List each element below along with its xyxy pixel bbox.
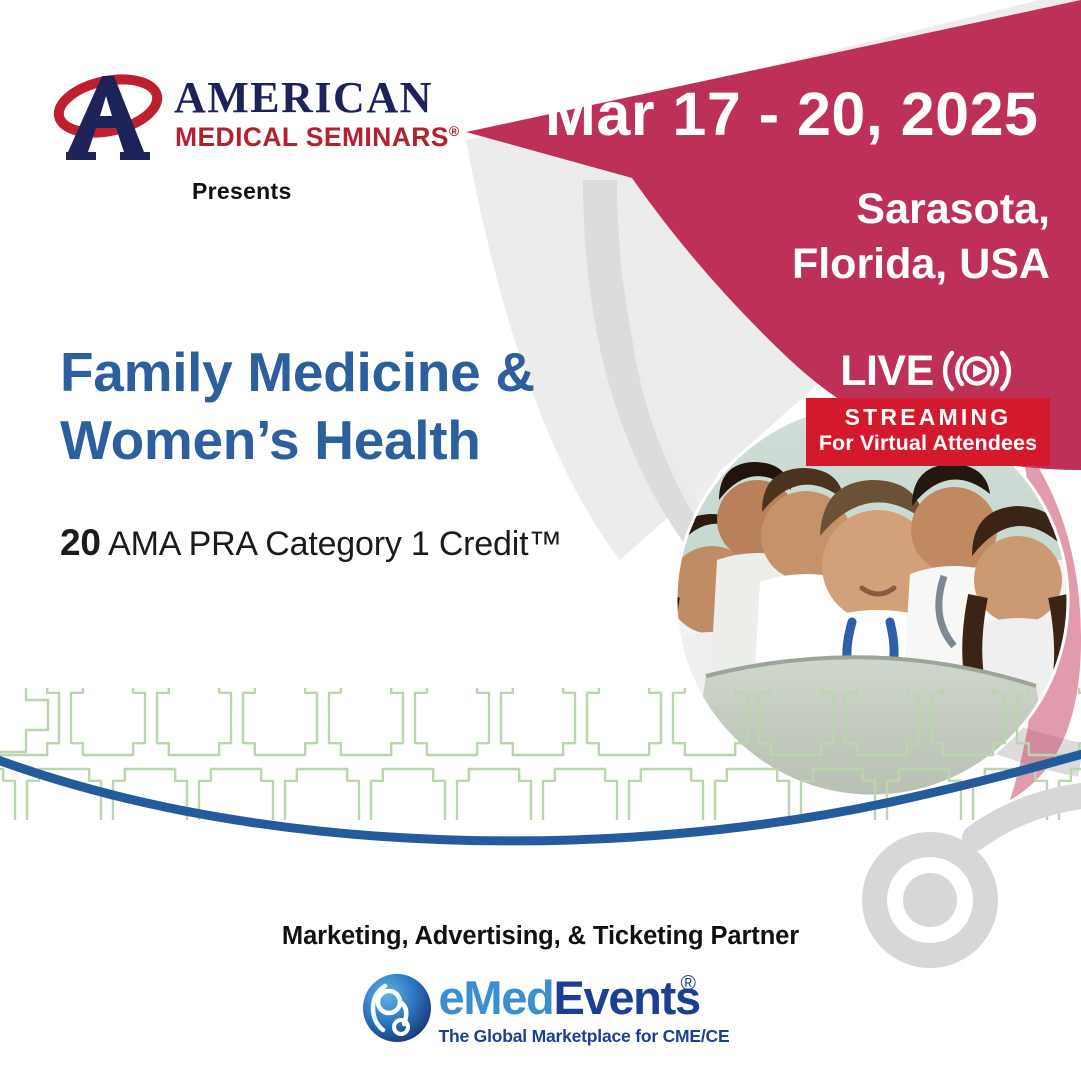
emedevents-logo: eMedEvents ® The Global Marketplace for …	[0, 966, 1081, 1052]
event-promo-poster: AMERICAN MEDICAL SEMINARS® Presents Mar …	[0, 0, 1081, 1080]
event-date: Mar 17 - 20, 2025	[545, 82, 1055, 146]
emedevents-registered-mark: ®	[681, 972, 696, 996]
partner-label: Marketing, Advertising, & Ticketing Part…	[0, 922, 1081, 951]
event-region: Florida, USA	[545, 237, 1050, 292]
ams-logo-line1: AMERICAN	[174, 76, 460, 120]
emedevents-wordmark: eMedEvents	[439, 974, 700, 1021]
event-location: Sarasota, Florida, USA	[545, 182, 1050, 292]
crimson-echo	[1010, 440, 1081, 800]
globe-stethoscope-icon	[361, 972, 433, 1044]
medical-cross-pattern-icon	[0, 678, 1081, 843]
logo-part-emed: eMed	[439, 971, 554, 1024]
american-medical-seminars-logo: AMERICAN MEDICAL SEMINARS®	[52, 66, 452, 171]
letter-a-with-ellipse-icon	[52, 66, 164, 166]
credit-text: AMA PRA Category 1 Credit™	[108, 525, 562, 563]
ams-logo-line2: MEDICAL SEMINARS®	[175, 124, 460, 151]
broadcast-play-icon	[938, 349, 1016, 393]
streaming-badge-box: STREAMING For Virtual Attendees	[806, 398, 1050, 466]
title-line-2: Women’s Health	[60, 406, 660, 474]
emedevents-tagline: The Global Marketplace for CME/CE	[439, 1026, 730, 1047]
blue-arc	[0, 752, 1081, 841]
page-title: Family Medicine & Women’s Health	[60, 338, 660, 474]
presents-label: Presents	[192, 178, 292, 205]
credit-amount: 20	[60, 522, 101, 563]
live-label: LIVE	[840, 350, 934, 393]
streaming-label: STREAMING	[814, 404, 1042, 430]
live-streaming-badge: LIVE STREAMING For Virtual Attendees	[806, 348, 1050, 466]
cme-credit-line: 20 AMA PRA Category 1 Credit™	[60, 522, 700, 564]
title-line-1: Family Medicine &	[60, 338, 660, 406]
registered-mark: ®	[449, 123, 460, 139]
event-city: Sarasota,	[545, 182, 1050, 237]
logo-part-events: Events	[553, 971, 699, 1024]
virtual-attendees-label: For Virtual Attendees	[814, 431, 1042, 457]
